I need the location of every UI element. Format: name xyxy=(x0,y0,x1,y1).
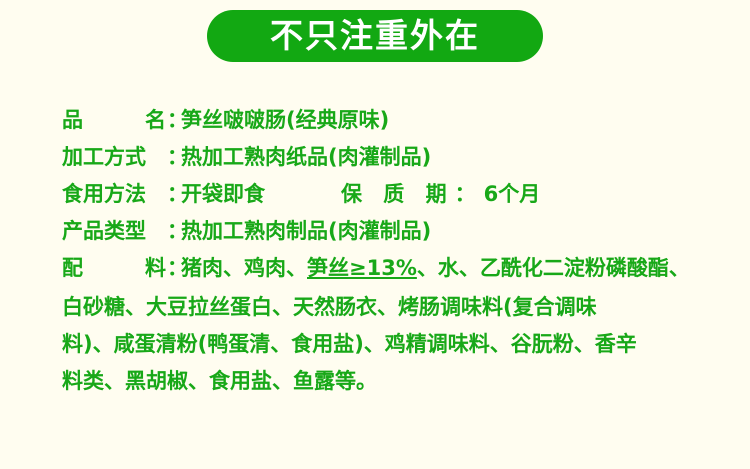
colon-product-type: ： xyxy=(167,215,182,245)
value-serving-method: 开袋即食 xyxy=(181,178,265,208)
label-serving-method-text: 食用方法 xyxy=(62,178,146,208)
label-product-type-text: 产品类型 xyxy=(62,215,146,245)
value-cell-product-name: 笋丝啵啵肠(经典原味) xyxy=(181,104,722,134)
colon-ingredients: ： xyxy=(167,252,182,282)
info-row-ingredients: 配 料 ： 猪肉、鸡肉、 笋丝≥13% 、水、乙酰化二淀粉磷酸酯、 xyxy=(62,252,722,289)
value-cell-serving-method: 开袋即食 保 质 期 ： 6个月 xyxy=(181,178,722,208)
info-row-processing-method: 加工方式 ： 热加工熟肉纸品(肉灌制品) xyxy=(62,141,722,178)
value-ingredients-post: 、水、乙酰化二淀粉磷酸酯、 xyxy=(417,252,690,282)
value-product-type: 热加工熟肉制品(肉灌制品) xyxy=(181,215,431,245)
info-row-product-type: 产品类型 ： 热加工熟肉制品(肉灌制品) xyxy=(62,215,722,252)
info-row-product-name: 品 名 ： 笋丝啵啵肠(经典原味) xyxy=(62,104,722,141)
value-cell-processing-method: 热加工熟肉纸品(肉灌制品) xyxy=(181,141,722,171)
value-product-name: 笋丝啵啵肠(经典原味) xyxy=(181,104,389,134)
product-label-page: 不只注重外在 品 名 ： 笋丝啵啵肠(经典原味) 加工方式 ： 热加工熟肉纸品(… xyxy=(0,0,750,469)
label-shelf-life: 保 质 期 xyxy=(341,178,454,208)
header-banner: 不只注重外在 xyxy=(0,10,750,62)
info-row-serving-method: 食用方法 ： 开袋即食 保 质 期 ： 6个月 xyxy=(62,178,722,215)
value-cell-ingredients: 猪肉、鸡肉、 笋丝≥13% 、水、乙酰化二淀粉磷酸酯、 xyxy=(181,252,722,282)
label-processing-method: 加工方式 xyxy=(62,141,166,171)
product-info-block: 品 名 ： 笋丝啵啵肠(经典原味) 加工方式 ： 热加工熟肉纸品(肉灌制品) 食… xyxy=(62,104,722,400)
value-shelf-life: 6个月 xyxy=(484,178,541,208)
label-product-name-char2: 名 xyxy=(145,104,166,134)
value-ingredients-bamboo-percent: 笋丝≥13% xyxy=(307,252,417,282)
shelf-life-field: 保 质 期 ： 6个月 xyxy=(341,178,540,208)
label-processing-method-text: 加工方式 xyxy=(62,141,146,171)
value-ingredients-pre: 猪肉、鸡肉、 xyxy=(181,252,307,282)
label-ingredients: 配 料 xyxy=(62,252,166,282)
label-product-type: 产品类型 xyxy=(62,215,166,245)
value-cell-product-type: 热加工熟肉制品(肉灌制品) xyxy=(181,215,722,245)
label-ingredients-char2: 料 xyxy=(145,252,166,282)
label-product-name-char1: 品 xyxy=(62,104,83,134)
page-title: 不只注重外在 xyxy=(270,19,480,52)
colon-shelf-life: ： xyxy=(455,178,476,208)
ingredients-wrap-line-1: 白砂糖、大豆拉丝蛋白、天然肠衣、烤肠调味料(复合调味 xyxy=(62,289,722,326)
colon-product-name: ： xyxy=(167,104,182,134)
value-processing-method: 热加工熟肉纸品(肉灌制品) xyxy=(181,141,431,171)
header-pill: 不只注重外在 xyxy=(207,10,543,62)
colon-processing-method: ： xyxy=(167,141,182,171)
colon-serving-method: ： xyxy=(167,178,182,208)
ingredients-wrap-line-3: 料类、黑胡椒、食用盐、鱼露等。 xyxy=(62,363,722,400)
label-serving-method: 食用方法 xyxy=(62,178,166,208)
ingredients-wrap-line-2: 料)、咸蛋清粉(鸭蛋清、食用盐)、鸡精调味料、谷朊粉、香辛 xyxy=(62,326,722,363)
label-product-name: 品 名 xyxy=(62,104,166,134)
label-ingredients-char1: 配 xyxy=(62,252,83,282)
